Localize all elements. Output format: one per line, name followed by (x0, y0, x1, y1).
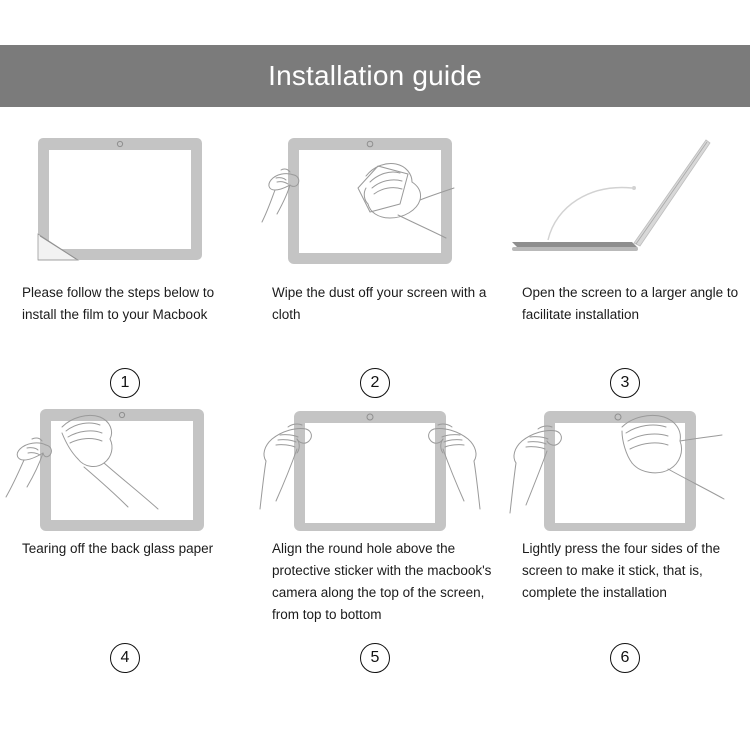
step-5-illustration (250, 405, 500, 545)
open-angle-arc-icon (548, 186, 636, 240)
laptop-base-icon (512, 242, 638, 251)
step-1-number: 1 (110, 368, 140, 398)
step-4-caption: Tearing off the back glass paper (22, 538, 244, 560)
installation-guide-page: Installation guide Ple (0, 0, 750, 750)
step-1-caption: Please follow the steps below to install… (22, 282, 244, 326)
step-2-number: 2 (360, 368, 390, 398)
step-card-5: Align the round hole above the protectiv… (250, 405, 500, 680)
step-6-caption: Lightly press the four sides of the scre… (522, 538, 744, 604)
step-3-number: 3 (610, 368, 640, 398)
step-6-illustration (500, 405, 750, 545)
step-card-1: Please follow the steps below to install… (0, 130, 250, 405)
step-3-illustration (500, 130, 750, 270)
step-card-2: Wipe the dust off your screen with a clo… (250, 130, 500, 405)
step-2-illustration (250, 130, 500, 270)
macbook-screen-icon (38, 138, 202, 260)
steps-grid: Please follow the steps below to install… (0, 130, 750, 740)
laptop-open-lid-icon (634, 140, 710, 246)
step-3-caption: Open the screen to a larger angle to fac… (522, 282, 744, 326)
step-4-number: 4 (110, 643, 140, 673)
step-card-3: Open the screen to a larger angle to fac… (500, 130, 750, 405)
step-6-number: 6 (610, 643, 640, 673)
page-title: Installation guide (268, 62, 482, 90)
step-1-illustration (0, 130, 250, 270)
header-bar: Installation guide (0, 45, 750, 107)
macbook-screen-icon (40, 409, 204, 531)
step-4-illustration (0, 405, 250, 545)
step-2-caption: Wipe the dust off your screen with a clo… (272, 282, 494, 326)
step-5-caption: Align the round hole above the protectiv… (272, 538, 494, 626)
step-card-6: Lightly press the four sides of the scre… (500, 405, 750, 680)
step-5-number: 5 (360, 643, 390, 673)
macbook-screen-icon (544, 411, 696, 531)
step-card-4: Tearing off the back glass paper 4 (0, 405, 250, 680)
macbook-screen-icon (294, 411, 446, 531)
macbook-screen-icon (288, 138, 452, 264)
